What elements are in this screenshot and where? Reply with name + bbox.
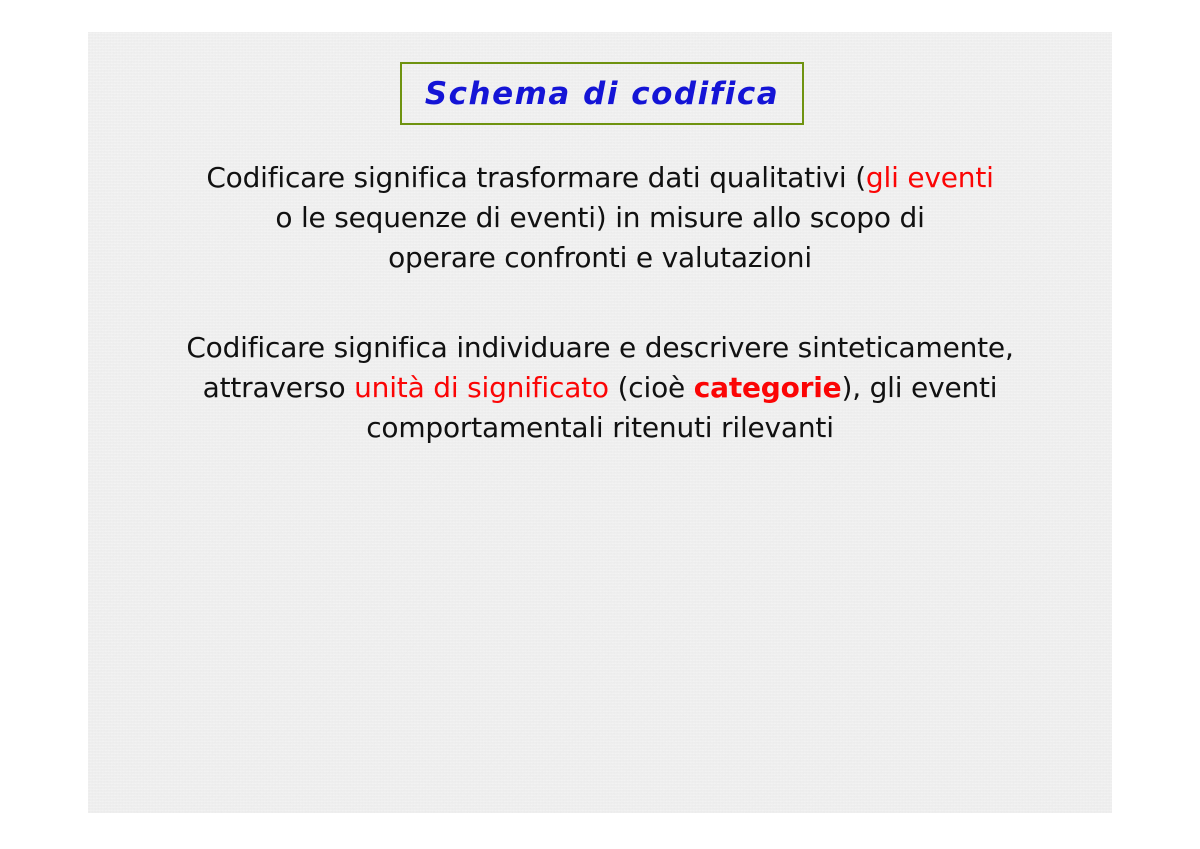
title-box: Schema di codifica xyxy=(400,62,804,125)
p2-l2-black-lead: attraverso xyxy=(203,371,355,404)
slide: Schema di codifica Codificare significa … xyxy=(88,32,1112,813)
paragraph-two-line-2: attraverso unità di significato (cioè ca… xyxy=(88,368,1112,408)
p1-l1-black-text: Codificare significa trasformare dati qu… xyxy=(206,161,866,194)
paragraph-one-line-2: o le sequenze di eventi) in misure allo … xyxy=(88,198,1112,238)
page-canvas: Schema di codifica Codificare significa … xyxy=(0,0,1200,849)
p2-l2-black-tail: ), gli eventi xyxy=(841,371,997,404)
paragraph-two-line-1: Codificare significa individuare e descr… xyxy=(88,328,1112,368)
paragraph-one-line-3: operare confronti e valutazioni xyxy=(88,238,1112,278)
p2-l2-red-bold-phrase: categorie xyxy=(694,371,842,404)
paragraph-one: Codificare significa trasformare dati qu… xyxy=(88,158,1112,278)
paragraph-one-line-1: Codificare significa trasformare dati qu… xyxy=(88,158,1112,198)
p1-l1-red-text: gli eventi xyxy=(866,161,994,194)
p2-l2-red-phrase: unità di significato xyxy=(354,371,609,404)
slide-title: Schema di codifica xyxy=(425,76,779,112)
paragraph-two-line-3: comportamentali ritenuti rilevanti xyxy=(88,408,1112,448)
paragraph-two: Codificare significa individuare e descr… xyxy=(88,328,1112,448)
p2-l2-black-mid: (cioè xyxy=(609,371,694,404)
